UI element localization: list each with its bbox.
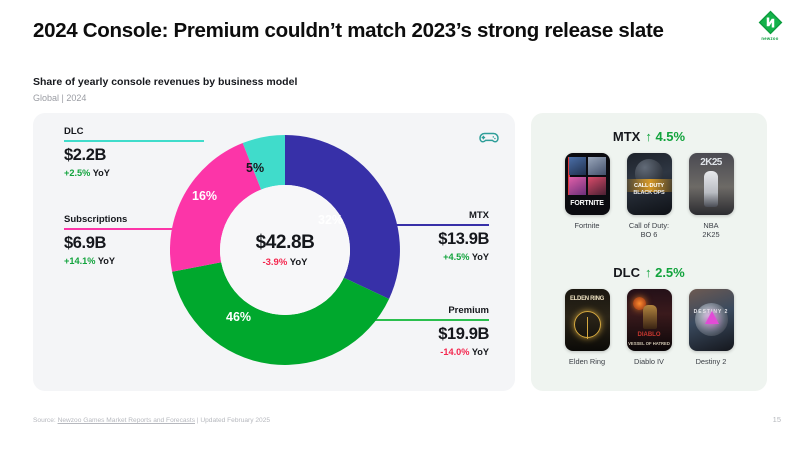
game-tile-fortnite[interactable]: FORTNITE Fortnite xyxy=(563,153,611,240)
game-art-cod-line2: BLACK OPS xyxy=(627,190,672,196)
game-art-diablo-iv[interactable]: DIABLO VESSEL OF HATRED xyxy=(627,289,672,351)
game-caption-elden-ring: Elden Ring xyxy=(569,357,605,366)
game-art-call-of-duty-bo6[interactable]: CALL∙DUTY BLACK OPS xyxy=(627,153,672,215)
game-art-nba-2k25[interactable]: 2K25 xyxy=(689,153,734,215)
newzoo-diamond-icon xyxy=(758,10,783,35)
game-art-diablo-line2: VESSEL OF HATRED xyxy=(627,341,672,346)
games-group-mtx-row: FORTNITE Fortnite CALL∙DUTY BLACK OPS Ca… xyxy=(531,153,767,240)
game-caption-call-of-duty-bo6: Call of Duty:BO 6 xyxy=(629,221,669,240)
game-art-elden-wordmark: ELDEN RING xyxy=(565,296,610,302)
games-group-dlc-change: 2.5% xyxy=(655,265,685,280)
game-art-fortnite-wordmark: FORTNITE xyxy=(565,200,610,207)
slide: 2024 Console: Premium couldn’t match 202… xyxy=(0,0,800,450)
source-link[interactable]: Newzoo Games Market Reports and Forecast… xyxy=(58,417,195,424)
up-arrow-icon: ↑ xyxy=(645,129,652,144)
chart-subtitle: Share of yearly console revenues by busi… xyxy=(33,76,297,88)
game-art-destiny-2[interactable]: DESTINY 2 xyxy=(689,289,734,351)
game-tile-elden-ring[interactable]: ELDEN RING Elden Ring xyxy=(563,289,611,366)
game-tile-destiny-2[interactable]: DESTINY 2 Destiny 2 xyxy=(687,289,735,366)
donut-center-yoy: -3.9% YoY xyxy=(262,257,307,268)
donut-label-dlc: 5% xyxy=(246,161,264,175)
up-arrow-icon-2: ↑ xyxy=(645,265,652,280)
game-caption-destiny-2: Destiny 2 xyxy=(696,357,727,366)
donut-label-premium: 46% xyxy=(226,310,251,324)
chart-scope-label: Global | 2024 xyxy=(33,93,86,103)
game-caption-diablo-iv: Diablo IV xyxy=(634,357,664,366)
page-title: 2024 Console: Premium couldn’t match 202… xyxy=(33,19,664,43)
donut-chart: $42.8B -3.9% YoY 32% 46% 16% 5% xyxy=(170,135,400,365)
game-tile-nba-2k25[interactable]: 2K25 NBA2K25 xyxy=(687,153,735,240)
source-footnote: Source: Newzoo Games Market Reports and … xyxy=(33,417,270,424)
game-tile-call-of-duty-bo6[interactable]: CALL∙DUTY BLACK OPS Call of Duty:BO 6 xyxy=(625,153,673,240)
game-art-fortnite[interactable]: FORTNITE xyxy=(565,153,610,215)
game-art-diablo-line1: DIABLO xyxy=(627,332,672,338)
newzoo-wordmark: newzoo xyxy=(761,36,778,41)
donut-center: $42.8B -3.9% YoY xyxy=(220,185,350,315)
page-number: 15 xyxy=(773,415,781,424)
newzoo-logo: newzoo xyxy=(753,10,787,44)
games-group-dlc-heading: DLC↑ 2.5% xyxy=(531,265,767,280)
gamepad-icon xyxy=(477,125,501,149)
game-caption-fortnite: Fortnite xyxy=(574,221,599,230)
game-art-cod-line1: CALL∙DUTY xyxy=(627,183,672,189)
games-group-mtx-label: MTX xyxy=(613,129,640,144)
game-caption-nba-2k25: NBA2K25 xyxy=(702,221,719,240)
source-suffix: | Updated February 2025 xyxy=(195,417,270,424)
games-group-dlc-row: ELDEN RING Elden Ring DIABLO VESSEL OF H… xyxy=(531,289,767,366)
games-group-mtx-heading: MTX↑ 4.5% xyxy=(531,129,767,144)
source-prefix: Source: xyxy=(33,417,58,424)
games-group-dlc-label: DLC xyxy=(613,265,640,280)
games-group-mtx-change: 4.5% xyxy=(655,129,685,144)
game-art-nba-wordmark: 2K25 xyxy=(691,155,732,169)
chart-panel: DLC $2.2B +2.5% YoY Subscriptions $6.9B … xyxy=(33,113,515,391)
donut-label-mtx: 32% xyxy=(318,213,343,227)
donut-center-value: $42.8B xyxy=(256,232,315,254)
games-group-mtx: MTX↑ 4.5% FORTNITE Fortnite CALL∙DUTY B xyxy=(531,129,767,240)
games-panel: MTX↑ 4.5% FORTNITE Fortnite CALL∙DUTY B xyxy=(531,113,767,391)
game-art-elden-ring[interactable]: ELDEN RING xyxy=(565,289,610,351)
donut-label-subscriptions: 16% xyxy=(192,189,217,203)
game-tile-diablo-iv[interactable]: DIABLO VESSEL OF HATRED Diablo IV xyxy=(625,289,673,366)
games-group-dlc: DLC↑ 2.5% ELDEN RING Elden Ring DIABLO V… xyxy=(531,265,767,366)
